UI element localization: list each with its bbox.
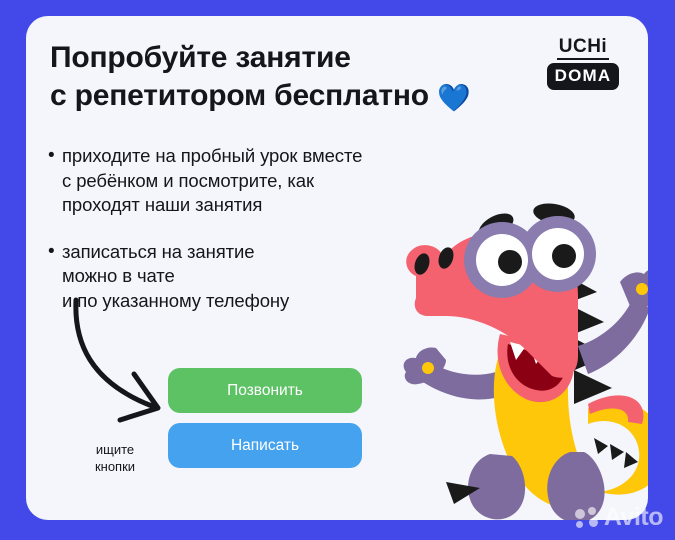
mascot-tail-teeth [594, 438, 638, 468]
blue-heart-icon: 💙 [437, 83, 470, 113]
call-button[interactable]: Позвонить [168, 368, 362, 413]
avito-watermark: Avito [575, 505, 663, 530]
logo-top-text: UCHi [557, 36, 609, 60]
list-item-text: приходите на пробный урок вместе с ребён… [62, 144, 362, 218]
headline-line-2: с репетитором бесплатно [50, 79, 429, 112]
dinosaur-mascot [392, 196, 648, 520]
mascot-left-leg [468, 454, 525, 519]
mascot-right-arm [578, 300, 648, 374]
logo-bottom-badge: DOMA [547, 63, 620, 90]
avito-watermark-text: Avito [604, 505, 663, 530]
hint-label: ищите кнопки [60, 441, 170, 475]
brand-logo: UCHi DOMA [540, 36, 626, 90]
mascot-right-hand-dot [636, 283, 648, 295]
headline-line-1: Попробуйте занятие [50, 41, 351, 74]
write-button[interactable]: Написать [168, 423, 362, 468]
advertisement-banner: UCHi DOMA Попробуйте занятие с репетитор… [0, 0, 675, 540]
bullet-marker-icon: • [48, 144, 62, 218]
content-card: UCHi DOMA Попробуйте занятие с репетитор… [26, 16, 648, 520]
mascot-left-hand-dot [422, 362, 434, 374]
page-title: Попробуйте занятие с репетитором бесплат… [50, 39, 550, 117]
bullet-marker-icon: • [48, 240, 62, 314]
avito-logo-icon [575, 507, 601, 529]
